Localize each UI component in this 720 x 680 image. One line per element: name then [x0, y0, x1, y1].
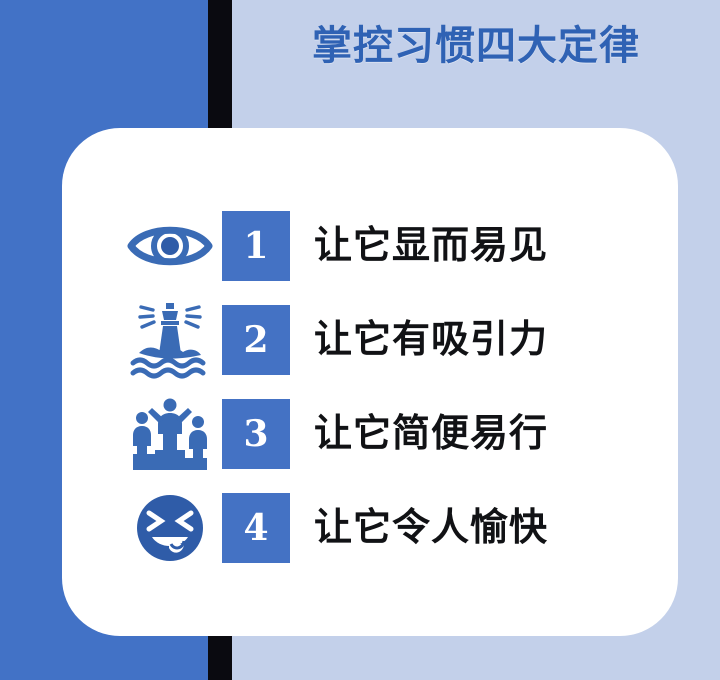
law-list: 1 让它显而易见: [62, 199, 678, 575]
list-item[interactable]: 3 让它简便易行: [62, 387, 678, 481]
law-number-box: 2: [222, 305, 290, 375]
podium-winners-icon: [112, 387, 228, 481]
law-label: 让它显而易见: [314, 227, 548, 265]
list-item[interactable]: 4 让它令人愉快: [62, 481, 678, 575]
smiley-tongue-icon: [112, 481, 228, 575]
lighthouse-icon: [112, 293, 228, 387]
poster-canvas: 掌控习惯四大定律 1 让它显而易见: [0, 0, 720, 680]
law-number-box: 3: [222, 399, 290, 469]
law-label: 让它令人愉快: [314, 509, 548, 547]
law-number-box: 1: [222, 211, 290, 281]
law-label: 让它简便易行: [314, 415, 548, 453]
law-number: 1: [243, 228, 268, 264]
eye-icon: [112, 199, 228, 293]
law-number-box: 4: [222, 493, 290, 563]
title-bar: 掌控习惯四大定律: [232, 0, 720, 92]
list-item[interactable]: 2 让它有吸引力: [62, 293, 678, 387]
page-title: 掌控习惯四大定律: [312, 26, 640, 66]
content-card: 1 让它显而易见: [62, 128, 678, 636]
law-number: 2: [243, 322, 268, 358]
list-item[interactable]: 1 让它显而易见: [62, 199, 678, 293]
law-number: 4: [243, 510, 268, 546]
law-label: 让它有吸引力: [314, 321, 548, 359]
law-number: 3: [243, 416, 268, 452]
